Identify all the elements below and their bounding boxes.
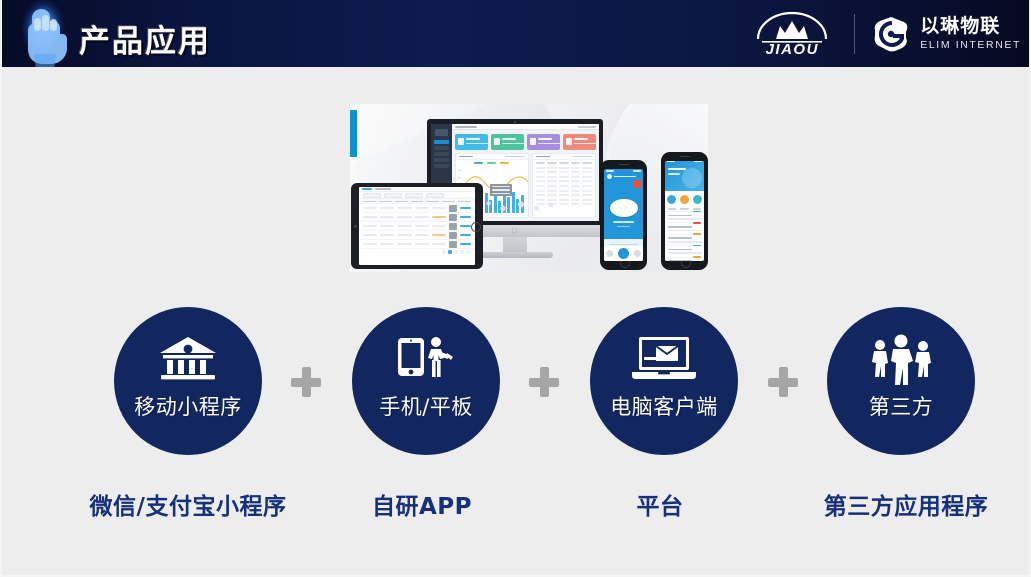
laptop-envelope-icon [630, 333, 698, 385]
caption-third-party: 第三方应用程序 [776, 487, 1031, 521]
logo-divider [854, 14, 855, 54]
slide-header: 产品应用 JIAOU 以琳物联 ELIM INTERN [2, 0, 1031, 67]
channel-oval-label: 第三方 [869, 391, 934, 421]
bank-building-icon [157, 333, 219, 385]
tablet-data-table [351, 183, 483, 269]
channel-oval-label: 移动小程序 [134, 391, 242, 421]
channel-oval-mini-program[interactable]: 移动小程序 [114, 307, 262, 455]
raised-fist-icon [10, 0, 78, 67]
elim-logo-en: ELIM INTERNET [920, 40, 1021, 51]
phone-app-list [661, 152, 708, 270]
header-logos: JIAOU 以琳物联 ELIM INTERNET [746, 0, 1021, 67]
plus-separator-1 [291, 367, 321, 397]
slide-canvas: 产品应用 JIAOU 以琳物联 ELIM INTERN [0, 0, 1031, 577]
channel-oval-app[interactable]: 手机/平板 [352, 307, 500, 455]
plus-separator-3 [768, 367, 798, 397]
caption-platform: 平台 [530, 487, 790, 521]
accent-bar [350, 110, 357, 157]
dashboard-stat-cards [452, 130, 599, 153]
sunrise-crown-icon [746, 9, 838, 45]
page-title: 产品应用 [79, 16, 211, 61]
g-hexagon-icon [871, 14, 911, 54]
elim-logo: 以琳物联 ELIM INTERNET [871, 14, 1021, 54]
caption-mini-program: 微信/支付宝小程序 [58, 487, 318, 521]
channel-captions: 微信/支付宝小程序 自研APP 平台 第三方应用程序 [2, 487, 1031, 527]
phone-app-home [600, 160, 647, 270]
phone-person-icon [395, 333, 457, 385]
three-people-icon [868, 333, 934, 385]
jiaou-logo: JIAOU [746, 9, 838, 59]
channel-oval-row: 移动小程序 手机/平板 [2, 307, 1031, 457]
elim-logo-cn: 以琳物联 [920, 17, 1021, 36]
channel-oval-third-party[interactable]: 第三方 [827, 307, 975, 455]
multi-device-product-screenshot:  [350, 104, 708, 272]
jiaou-logo-text: JIAOU [746, 41, 838, 58]
channel-oval-label: 电脑客户端 [610, 391, 718, 421]
channel-oval-desktop[interactable]: 电脑客户端 [590, 307, 738, 455]
channel-oval-label: 手机/平板 [379, 391, 473, 421]
caption-app: 自研APP [292, 487, 552, 521]
plus-separator-2 [529, 367, 559, 397]
